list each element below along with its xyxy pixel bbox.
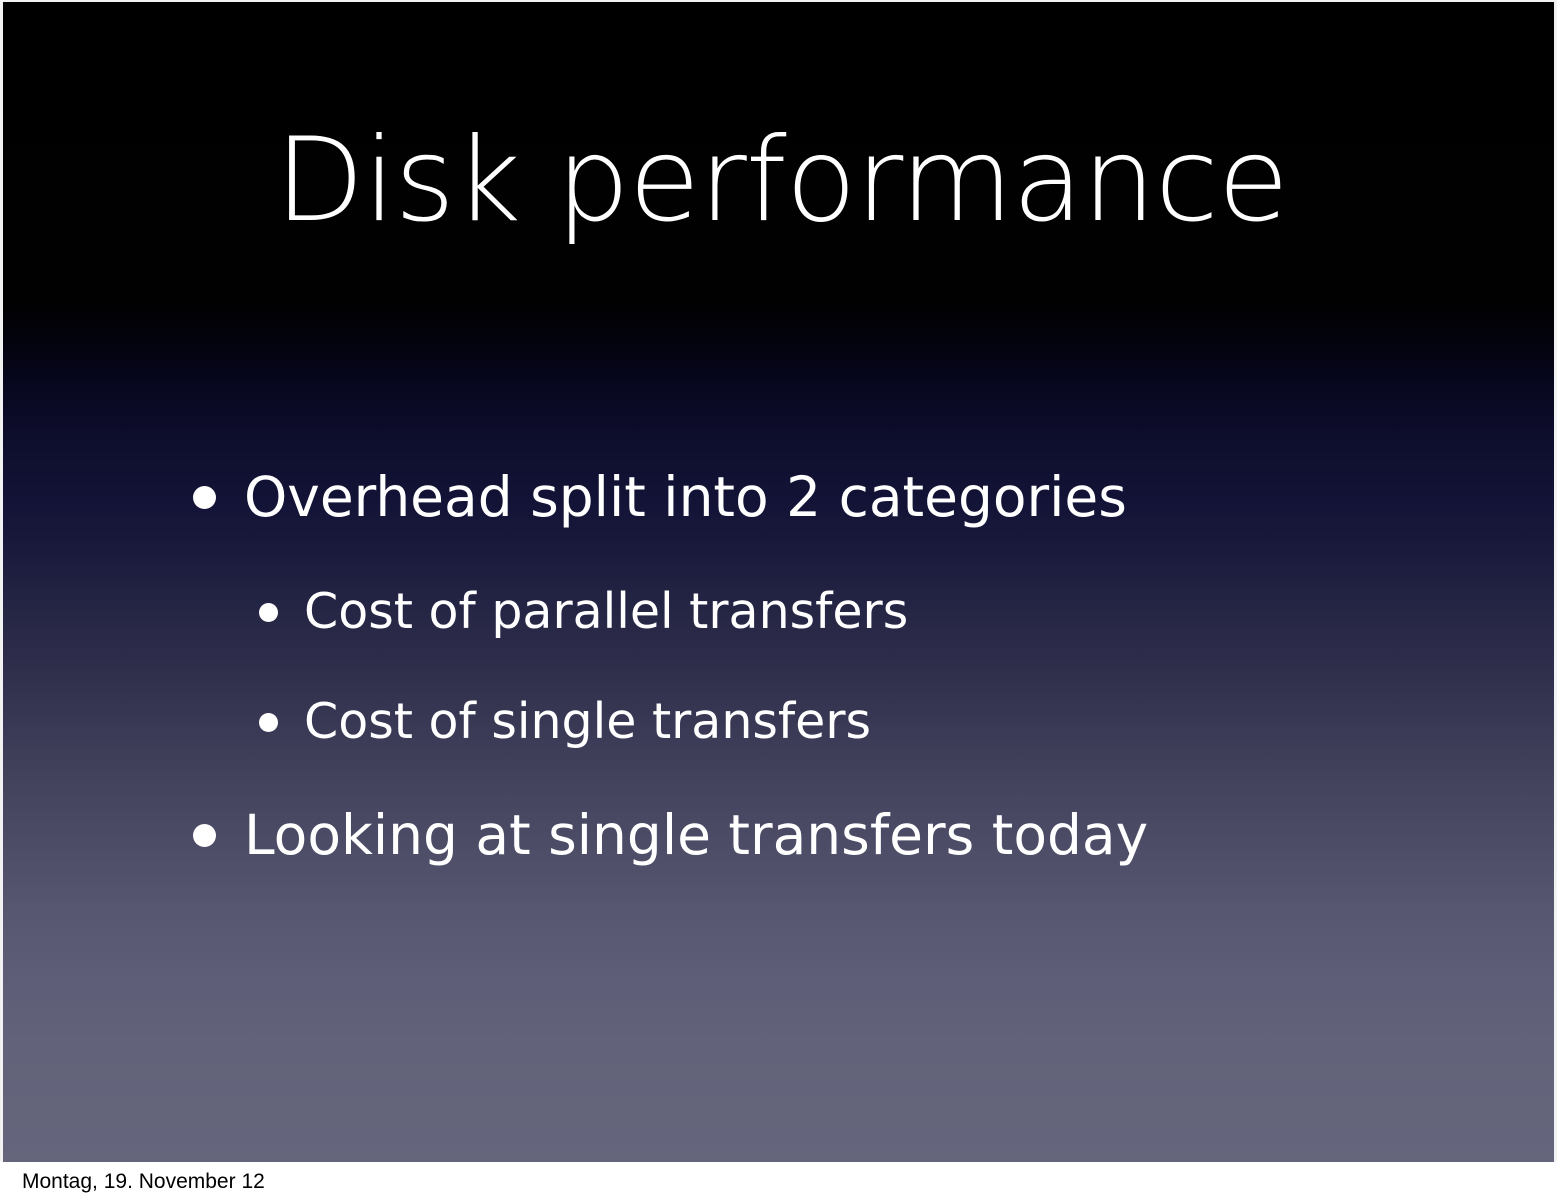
bullet-item: Overhead split into 2 categories xyxy=(193,464,1373,530)
bullet-dot-icon xyxy=(193,824,216,847)
bullet-text: Looking at single transfers today xyxy=(244,802,1148,868)
bullet-dot-icon xyxy=(259,603,278,622)
bullet-text: Cost of single transfers xyxy=(304,692,871,752)
bullet-dot-icon xyxy=(259,713,278,732)
bullet-item: Cost of parallel transfers xyxy=(259,582,1373,642)
slide-title: Disk performance xyxy=(3,120,1557,242)
slide-footer: Montag, 19. November 12 xyxy=(0,1164,1557,1199)
presentation-deck: Disk performance Overhead split into 2 c… xyxy=(0,0,1557,1199)
bullet-item: Looking at single transfers today xyxy=(193,802,1373,868)
bullet-dot-icon xyxy=(193,486,216,509)
slide-body: Overhead split into 2 categories Cost of… xyxy=(193,464,1373,920)
footer-date: Montag, 19. November 12 xyxy=(22,1169,265,1195)
bullet-item: Cost of single transfers xyxy=(259,692,1373,752)
slide-canvas: Disk performance Overhead split into 2 c… xyxy=(0,0,1557,1162)
bullet-text: Overhead split into 2 categories xyxy=(244,464,1127,530)
bullet-text: Cost of parallel transfers xyxy=(304,582,908,642)
